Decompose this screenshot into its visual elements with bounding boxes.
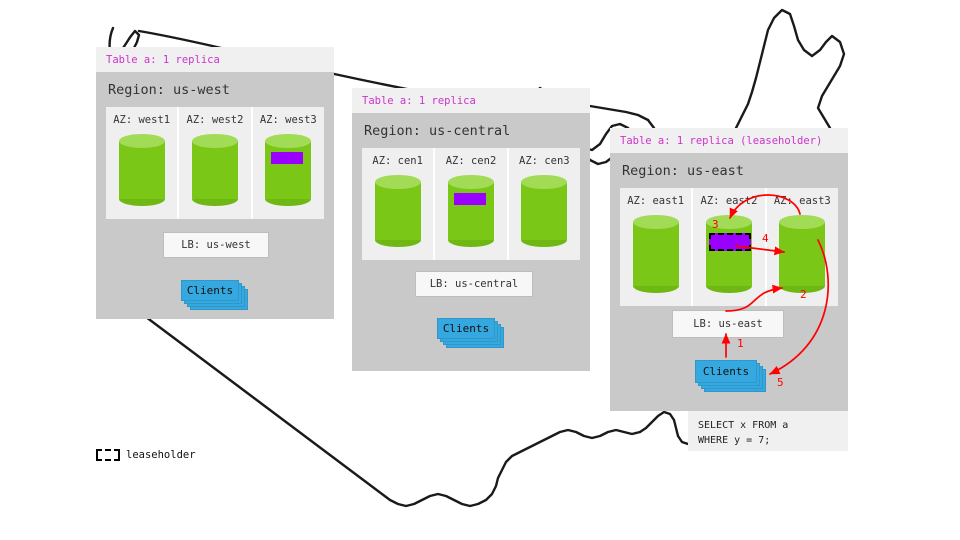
az-cell-west3[interactable]: AZ: west3 [253, 107, 324, 219]
az-cell-east1[interactable]: AZ: east1 [620, 188, 693, 306]
az-cell-cen1[interactable]: AZ: cen1 [362, 148, 435, 260]
clients-stack-us-west[interactable]: Clients [181, 280, 251, 312]
az-cell-west2[interactable]: AZ: west2 [179, 107, 252, 219]
az-label-east3: AZ: east3 [767, 195, 838, 207]
legend: leaseholder [96, 449, 196, 461]
cylinder-body [521, 182, 567, 240]
az-label-cen3: AZ: cen3 [509, 155, 580, 167]
az-label-east1: AZ: east1 [620, 195, 691, 207]
cylinder-top [633, 215, 679, 229]
az-strip-us-central: AZ: cen1 AZ: cen2 [362, 148, 580, 260]
cylinder-body [119, 141, 165, 199]
node-cylinder-west2[interactable] [192, 134, 238, 206]
cylinder-body [448, 182, 494, 240]
replica-box-cen2[interactable] [454, 193, 486, 205]
region-title-us-central: Region: us-central [352, 113, 590, 148]
region-panel-us-east: Table a: 1 replica (leaseholder) Region:… [610, 128, 848, 411]
node-cylinder-west3[interactable] [265, 134, 311, 206]
az-cell-west1[interactable]: AZ: west1 [106, 107, 179, 219]
cylinder-top [521, 175, 567, 189]
cylinder-top [119, 134, 165, 148]
panel-header-us-west: Table a: 1 replica [96, 47, 334, 72]
arrow-label-5: 5 [777, 376, 784, 389]
arrow-label-4: 4 [762, 232, 769, 245]
az-cell-east2[interactable]: AZ: east2 [693, 188, 766, 306]
cylinder-body [375, 182, 421, 240]
region-title-us-west: Region: us-west [96, 72, 334, 107]
panel-header-us-east: Table a: 1 replica (leaseholder) [610, 128, 848, 153]
node-cylinder-east3[interactable] [779, 215, 825, 293]
clients-button-us-east[interactable]: Clients [695, 360, 757, 383]
panel-header-us-central: Table a: 1 replica [352, 88, 590, 113]
legend-label-leaseholder: leaseholder [126, 449, 196, 461]
replica-box-west3[interactable] [271, 152, 303, 164]
az-label-west2: AZ: west2 [179, 114, 250, 126]
leaseholder-swatch-icon [96, 449, 120, 461]
diagram-canvas: Table a: 1 replica Region: us-west AZ: w… [0, 0, 960, 540]
cylinder-top [779, 215, 825, 229]
az-label-cen2: AZ: cen2 [435, 155, 506, 167]
sql-query-box: SELECT x FROM a WHERE y = 7; [688, 411, 848, 451]
load-balancer-us-central[interactable]: LB: us-central [415, 271, 533, 297]
clients-stack-us-central[interactable]: Clients [437, 318, 507, 350]
cylinder-top [265, 134, 311, 148]
az-label-west3: AZ: west3 [253, 114, 324, 126]
load-balancer-us-west[interactable]: LB: us-west [163, 232, 269, 258]
az-strip-us-west: AZ: west1 AZ: west2 [106, 107, 324, 219]
arrow-label-3: 3 [712, 218, 719, 231]
node-cylinder-west1[interactable] [119, 134, 165, 206]
region-title-us-east: Region: us-east [610, 153, 848, 188]
arrow-label-1: 1 [737, 337, 744, 350]
load-balancer-us-east[interactable]: LB: us-east [672, 310, 784, 338]
node-cylinder-east1[interactable] [633, 215, 679, 293]
node-cylinder-cen2[interactable] [448, 175, 494, 247]
cylinder-body [779, 222, 825, 286]
cylinder-body [192, 141, 238, 199]
az-cell-cen2[interactable]: AZ: cen2 [435, 148, 508, 260]
replica-box-east2-leaseholder[interactable] [709, 233, 751, 251]
az-cell-cen3[interactable]: AZ: cen3 [509, 148, 580, 260]
region-panel-us-west: Table a: 1 replica Region: us-west AZ: w… [96, 47, 334, 319]
cylinder-body [706, 222, 752, 286]
node-cylinder-cen1[interactable] [375, 175, 421, 247]
cylinder-top [448, 175, 494, 189]
az-label-cen1: AZ: cen1 [362, 155, 433, 167]
clients-button-us-west[interactable]: Clients [181, 280, 239, 301]
az-label-east2: AZ: east2 [693, 195, 764, 207]
cylinder-body [633, 222, 679, 286]
cylinder-top [192, 134, 238, 148]
clients-button-us-central[interactable]: Clients [437, 318, 495, 339]
cylinder-top [375, 175, 421, 189]
node-cylinder-cen3[interactable] [521, 175, 567, 247]
arrow-label-2: 2 [800, 288, 807, 301]
cylinder-body [265, 141, 311, 199]
region-panel-us-central: Table a: 1 replica Region: us-central AZ… [352, 88, 590, 371]
az-label-west1: AZ: west1 [106, 114, 177, 126]
clients-stack-us-east[interactable]: Clients [695, 360, 769, 394]
